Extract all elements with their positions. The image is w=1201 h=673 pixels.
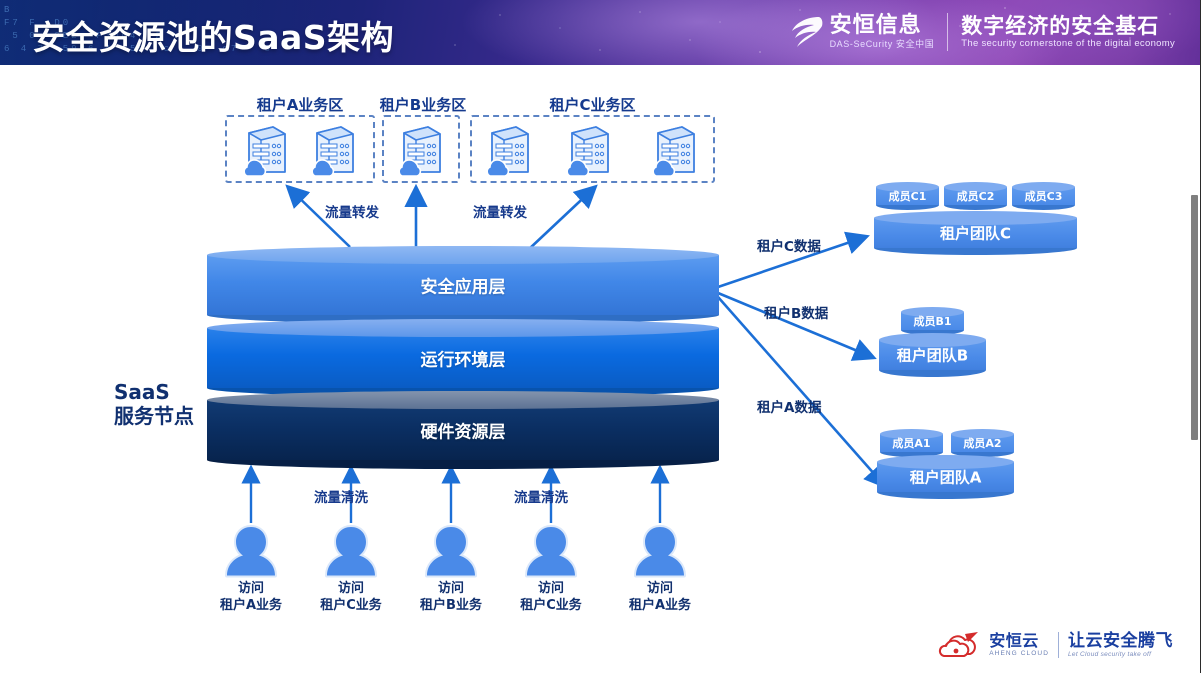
team-cylinder-b[interactable]: 租户团队B bbox=[879, 333, 986, 377]
user-caption-line2: 租户A业务 bbox=[216, 598, 286, 614]
flow-label-cleanse-2: 流量清洗 bbox=[514, 486, 568, 506]
flow-label-forward-1: 流量转发 bbox=[325, 201, 379, 221]
user-caption-line1: 访问 bbox=[416, 581, 486, 597]
zone-a[interactable] bbox=[225, 115, 375, 183]
zone-title-c: 租户C业务区 bbox=[470, 94, 715, 115]
zone-title-b: 租户B业务区 bbox=[378, 94, 468, 115]
zone-title-a: 租户A业务区 bbox=[225, 94, 375, 115]
member-cylinder-c3[interactable]: 成员C3 bbox=[1012, 182, 1075, 210]
user-icon bbox=[416, 521, 486, 585]
team-cylinder-a[interactable]: 租户团队A bbox=[877, 455, 1014, 499]
footer-slogan-block: 让云安全腾飞 Let Cloud security take off bbox=[1068, 632, 1173, 659]
footer-logo-block: 安恒云 AHENG CLOUD 让云安全腾飞 Let Cloud securit… bbox=[938, 628, 1173, 662]
arrow-data-a bbox=[718, 297, 884, 485]
member-cylinder-b1[interactable]: 成员B1 bbox=[901, 307, 964, 335]
brand-block: 安恒信息 DAS-SeCurity 安全中国 数字经济的安全基石 The sec… bbox=[786, 9, 1175, 55]
footer-name-block: 安恒云 AHENG CLOUD bbox=[989, 632, 1049, 658]
user-4[interactable]: 访问 租户C业务 bbox=[516, 521, 586, 590]
user-caption-line2: 租户B业务 bbox=[416, 598, 486, 614]
saas-label-line2: 服务节点 bbox=[114, 404, 194, 428]
page-title: 安全资源池的SaaS架构 bbox=[32, 11, 394, 59]
server-icon bbox=[394, 122, 448, 180]
stack-layer-hardware[interactable]: 硬件资源层 bbox=[207, 391, 719, 469]
diagram-canvas: 租户A业务区 租户B业务区 租户C业务区 bbox=[0, 65, 1201, 673]
stack-layer-security-app[interactable]: 安全应用层 bbox=[207, 246, 719, 324]
zone-c[interactable] bbox=[470, 115, 715, 183]
vertical-scrollbar-track[interactable] bbox=[1191, 65, 1200, 673]
user-2[interactable]: 访问 租户C业务 bbox=[316, 521, 386, 590]
team-label: 租户团队B bbox=[879, 345, 986, 366]
server-icon bbox=[482, 122, 536, 180]
user-caption-line1: 访问 bbox=[625, 581, 695, 597]
brand-slogan-en: The security cornerstone of the digital … bbox=[961, 38, 1175, 50]
saas-node-label: SaaS 服务节点 bbox=[114, 380, 194, 428]
brand-divider bbox=[947, 13, 948, 51]
brand-slogan-cn: 数字经济的安全基石 bbox=[961, 14, 1175, 38]
user-caption-line1: 访问 bbox=[516, 581, 586, 597]
footer-slogan-en: Let Cloud security take off bbox=[1068, 650, 1173, 659]
user-caption-line2: 租户A业务 bbox=[625, 598, 695, 614]
member-label: 成员C1 bbox=[876, 188, 939, 204]
stack-layer-label: 运行环境层 bbox=[207, 346, 719, 371]
footer-name-en: AHENG CLOUD bbox=[989, 649, 1049, 658]
brand-name-block: 安恒信息 DAS-SeCurity 安全中国 bbox=[830, 14, 935, 50]
stack-layer-label: 硬件资源层 bbox=[207, 418, 719, 443]
brand-slogan-block: 数字经济的安全基石 The security cornerstone of th… bbox=[961, 14, 1175, 50]
member-label: 成员A1 bbox=[880, 435, 943, 451]
stack-layer-label: 安全应用层 bbox=[207, 273, 719, 298]
user-caption-line2: 租户C业务 bbox=[516, 598, 586, 614]
stack-layer-runtime[interactable]: 运行环境层 bbox=[207, 319, 719, 397]
footer-slogan-cn: 让云安全腾飞 bbox=[1068, 632, 1173, 650]
user-1[interactable]: 访问 租户A业务 bbox=[216, 521, 286, 590]
user-caption-line1: 访问 bbox=[316, 581, 386, 597]
user-icon bbox=[625, 521, 695, 585]
cyl-top bbox=[207, 319, 719, 337]
member-cylinder-a2[interactable]: 成员A2 bbox=[951, 429, 1014, 457]
swoosh-logo-icon bbox=[786, 12, 826, 52]
data-label-b: 租户B数据 bbox=[764, 302, 828, 322]
member-label: 成员B1 bbox=[901, 313, 964, 329]
arrow-forward-c bbox=[528, 188, 594, 250]
user-icon bbox=[216, 521, 286, 585]
brand-name-cn: 安恒信息 bbox=[830, 14, 935, 38]
flow-label-forward-2: 流量转发 bbox=[473, 201, 527, 221]
user-3[interactable]: 访问 租户B业务 bbox=[416, 521, 486, 590]
slide-root: B F7 F D0 5 0 9E2 F3D04 2 6 4 7 5926 4 5… bbox=[0, 0, 1201, 673]
user-5[interactable]: 访问 租户A业务 bbox=[625, 521, 695, 590]
team-label: 租户团队A bbox=[877, 467, 1014, 488]
server-icon bbox=[562, 122, 616, 180]
member-cylinder-c1[interactable]: 成员C1 bbox=[876, 182, 939, 210]
server-icon bbox=[307, 122, 361, 180]
data-label-c: 租户C数据 bbox=[757, 235, 821, 255]
vertical-scrollbar-thumb[interactable] bbox=[1191, 195, 1198, 440]
member-label: 成员C2 bbox=[944, 188, 1007, 204]
cloud-logo-icon bbox=[938, 630, 984, 660]
zone-b[interactable] bbox=[382, 115, 460, 183]
footer-divider bbox=[1058, 632, 1059, 658]
server-icon bbox=[239, 122, 293, 180]
flow-label-cleanse-1: 流量清洗 bbox=[314, 486, 368, 506]
user-caption-line2: 租户C业务 bbox=[316, 598, 386, 614]
member-label: 成员C3 bbox=[1012, 188, 1075, 204]
user-icon bbox=[316, 521, 386, 585]
brand-name-en: DAS-SeCurity 安全中国 bbox=[830, 38, 935, 50]
data-label-a: 租户A数据 bbox=[757, 396, 821, 416]
server-icon bbox=[648, 122, 702, 180]
cyl-top bbox=[207, 246, 719, 264]
slide-header: B F7 F D0 5 0 9E2 F3D04 2 6 4 7 5926 4 5… bbox=[0, 0, 1201, 65]
user-caption-line1: 访问 bbox=[216, 581, 286, 597]
cyl-top bbox=[207, 391, 719, 409]
team-label: 租户团队C bbox=[874, 223, 1077, 244]
member-cylinder-a1[interactable]: 成员A1 bbox=[880, 429, 943, 457]
footer-name-cn: 安恒云 bbox=[989, 632, 1049, 649]
member-label: 成员A2 bbox=[951, 435, 1014, 451]
member-cylinder-c2[interactable]: 成员C2 bbox=[944, 182, 1007, 210]
user-icon bbox=[516, 521, 586, 585]
saas-label-line1: SaaS bbox=[114, 380, 194, 404]
team-cylinder-c[interactable]: 租户团队C bbox=[874, 211, 1077, 255]
